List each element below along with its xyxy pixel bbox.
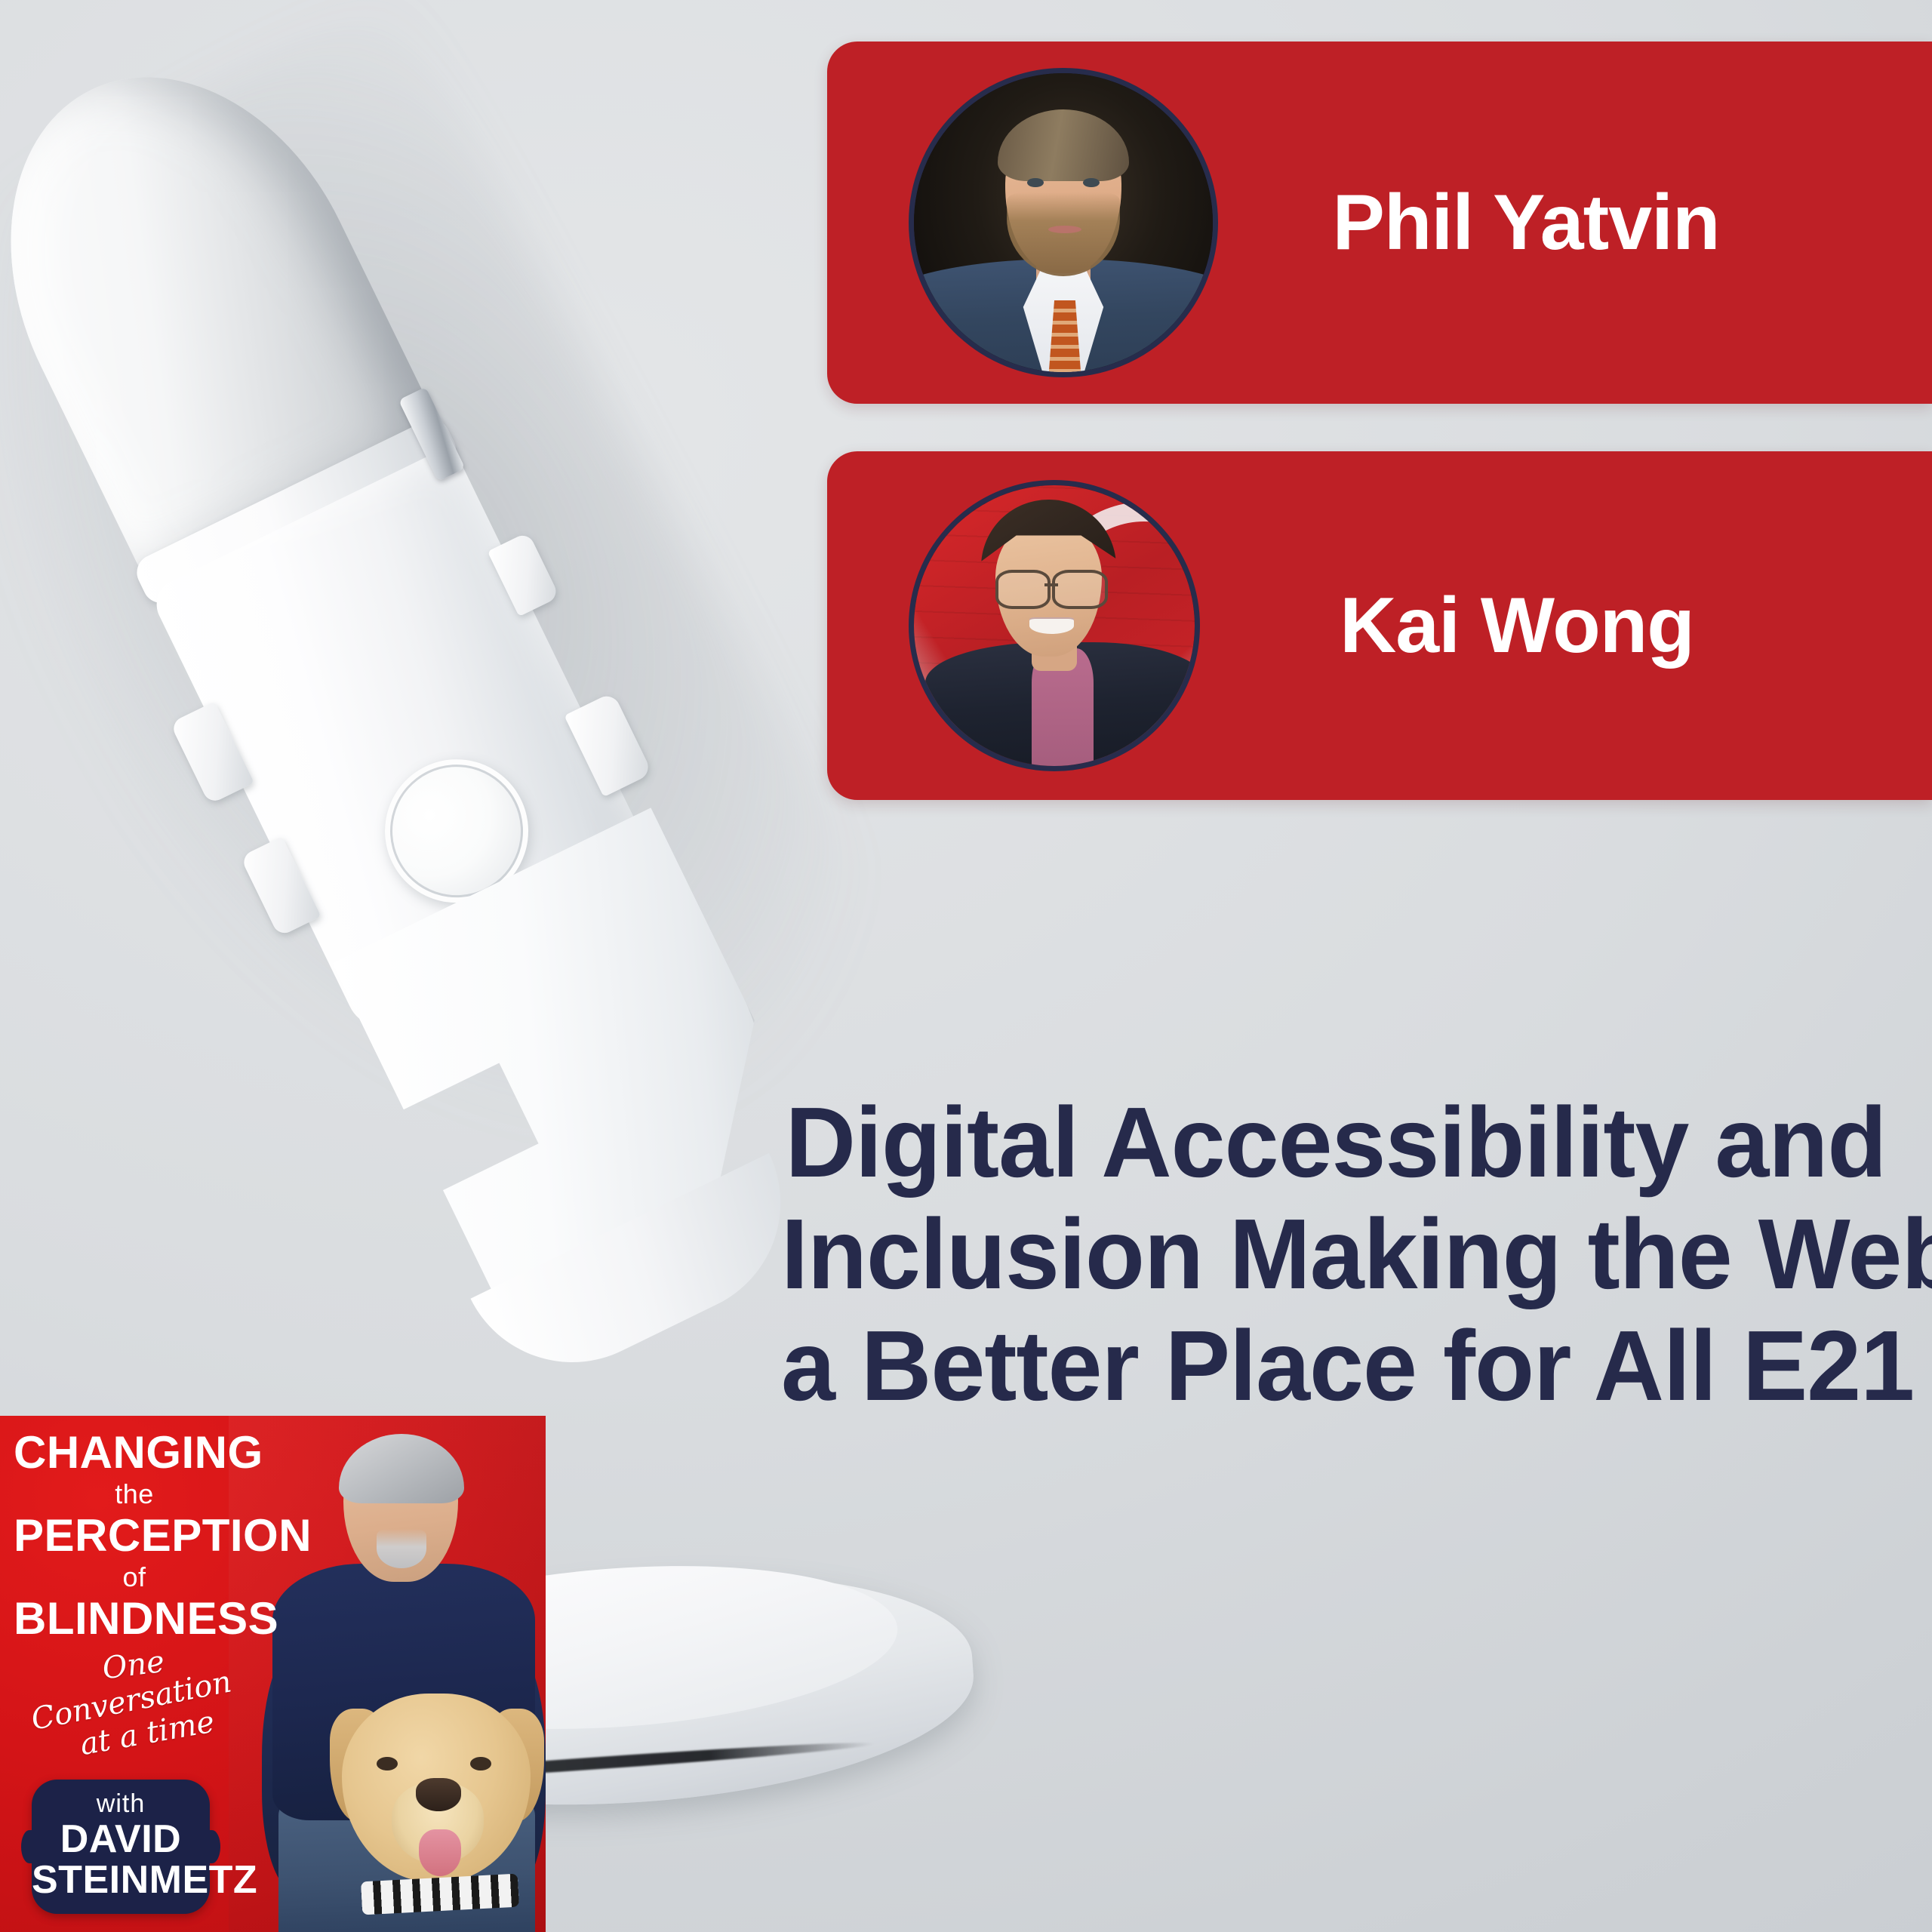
avatar-eye-right xyxy=(1083,178,1100,188)
microphone-pattern-knob xyxy=(240,836,321,937)
microphone-gain-knob xyxy=(170,701,254,804)
guest-banner-phil-yatvin: Phil Yatvin xyxy=(827,42,1932,404)
microphone-grille xyxy=(0,17,445,583)
avatar-lens-left xyxy=(995,570,1051,610)
host-photo xyxy=(229,1416,546,1932)
host-prefix-label: with xyxy=(32,1789,210,1819)
badge-line-of: of xyxy=(14,1559,255,1595)
guide-dog-eye-right xyxy=(470,1757,491,1770)
microphone-volume-knob xyxy=(564,692,652,797)
badge-line-changing: CHANGING xyxy=(14,1429,255,1476)
episode-title-line-2: Inclusion Making the Web xyxy=(781,1198,1890,1310)
avatar-glasses-bridge xyxy=(1044,583,1058,586)
microphone-mute-button xyxy=(361,735,552,927)
badge-tagline: One Conversation at a time xyxy=(7,1630,262,1770)
host-name-plaque: with DAVID STEINMETZ xyxy=(32,1780,210,1914)
guide-dog-nose xyxy=(416,1778,461,1811)
badge-title-block: CHANGING the PERCEPTION of BLINDNESS One… xyxy=(14,1429,255,1752)
microphone-yoke xyxy=(332,808,829,1329)
guest-name-label: Phil Yatvin xyxy=(1218,178,1932,268)
microphone-collar xyxy=(131,414,462,609)
avatar-glasses xyxy=(995,570,1108,604)
episode-title: Digital Accessibility and Inclusion Maki… xyxy=(781,1087,1890,1422)
podcast-logo-badge: CHANGING the PERCEPTION of BLINDNESS One… xyxy=(0,1416,546,1932)
podcast-cover-art: Phil Yatvin Kai Wong Digital Accessibili… xyxy=(0,0,1932,1932)
guide-dog-eye-left xyxy=(377,1757,398,1770)
microphone-body xyxy=(0,0,826,1105)
host-first-name: DAVID xyxy=(32,1819,210,1860)
microphone-stand-arm xyxy=(471,1153,819,1401)
badge-line-perception: PERCEPTION xyxy=(14,1512,255,1559)
avatar xyxy=(909,68,1218,377)
avatar xyxy=(909,480,1200,771)
guide-dog-tongue xyxy=(419,1829,461,1876)
host-last-name: STEINMETZ xyxy=(32,1860,210,1900)
microphone-grille-shading xyxy=(0,17,445,583)
host-goatee xyxy=(377,1529,426,1568)
guest-banner-kai-wong: Kai Wong xyxy=(827,451,1932,800)
badge-line-the: the xyxy=(14,1476,255,1512)
guest-name-label: Kai Wong xyxy=(1200,581,1932,671)
microphone-barrel xyxy=(148,445,670,1041)
avatar-lens-right xyxy=(1052,570,1107,610)
episode-title-line-3: a Better Place for All E21 xyxy=(781,1310,1890,1422)
episode-title-line-1: Digital Accessibility and xyxy=(781,1087,1890,1198)
microphone-side-clip xyxy=(398,387,466,481)
avatar-smile xyxy=(1029,617,1075,634)
microphone-mute-knob xyxy=(488,531,560,617)
